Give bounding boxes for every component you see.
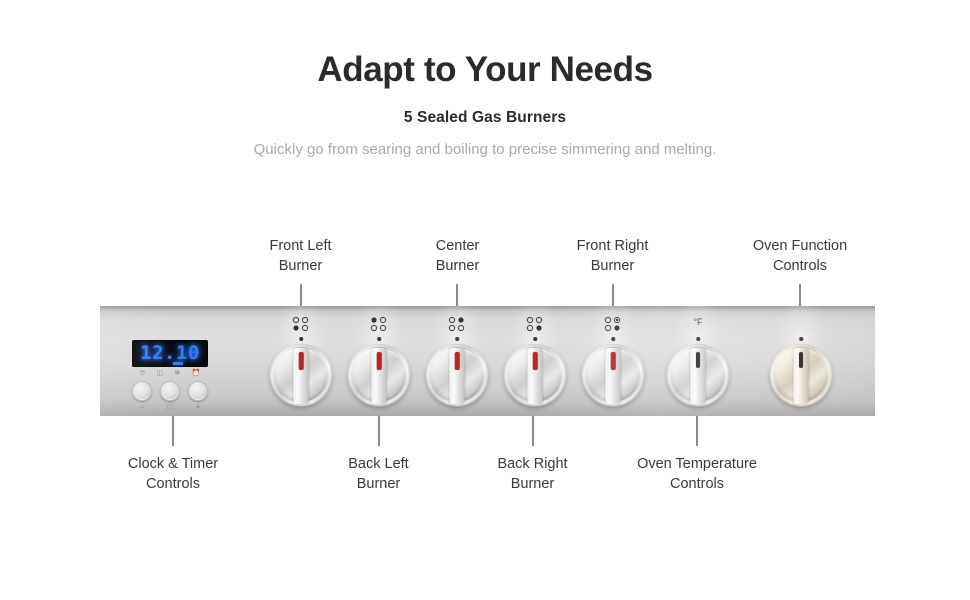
range-control-panel: 12.10 ⎊ ◫ ✻ ⏰ − □ + <box>100 306 875 416</box>
knob-index-dot <box>696 337 700 341</box>
page-title: Adapt to Your Needs <box>0 49 970 91</box>
clock-button-row <box>132 381 208 401</box>
callout-line-1: Back Left <box>316 454 441 474</box>
burner-position-icon <box>600 315 626 335</box>
knob-red-indicator <box>455 352 460 370</box>
callout-front-left-burner: Front Left Burner <box>238 236 363 276</box>
knob-center-burner[interactable] <box>426 315 488 410</box>
knob-dial[interactable] <box>348 344 410 406</box>
knob-front-left-burner[interactable] <box>270 315 332 410</box>
knob-index-dot <box>533 337 537 341</box>
leader-line-back-right-burner <box>532 416 534 446</box>
knob-dial[interactable] <box>426 344 488 406</box>
callout-line-1: Oven Temperature <box>612 454 782 474</box>
knob-index-dot <box>455 337 459 341</box>
knob-back-left-burner[interactable] <box>348 315 410 410</box>
burner-position-icon <box>366 315 392 335</box>
callout-line-1: Back Right <box>470 454 595 474</box>
knob-dark-indicator <box>799 352 803 368</box>
callout-back-right-burner: Back Right Burner <box>470 454 595 494</box>
callout-line-2: Burner <box>238 256 363 276</box>
callout-back-left-burner: Back Left Burner <box>316 454 441 494</box>
knob-index-dot <box>611 337 615 341</box>
knob-dial[interactable] <box>504 344 566 406</box>
burner-position-icon <box>288 315 314 335</box>
clock-display: 12.10 <box>132 340 208 367</box>
knob-oven-function[interactable] <box>770 315 832 410</box>
leader-line-oven-temperature-controls <box>696 416 698 446</box>
knob-oven-temperature[interactable]: °F <box>667 315 729 410</box>
set-button-label: □ <box>160 402 180 412</box>
callout-oven-temperature-controls: Oven Temperature Controls <box>612 454 782 494</box>
callout-line-2: Burner <box>395 256 520 276</box>
burner-position-icon <box>444 315 470 335</box>
callout-clock-and-timer-controls: Clock & Timer Controls <box>100 454 246 494</box>
knob-dial[interactable] <box>770 344 832 406</box>
callout-center-burner: Center Burner <box>395 236 520 276</box>
knob-back-right-burner[interactable] <box>504 315 566 410</box>
product-callout-figure: Adapt to Your Needs 5 Sealed Gas Burners… <box>0 0 970 600</box>
degrees-f-icon: °F <box>693 317 702 327</box>
knob-dial[interactable] <box>667 344 729 406</box>
plus-button-label: + <box>188 402 208 412</box>
oven-icon: ◫ <box>157 370 164 378</box>
knob-dial[interactable] <box>270 344 332 406</box>
clock-button-labels: − □ + <box>132 402 208 412</box>
clock-display-value: 12.10 <box>132 342 208 364</box>
probe-icon: ⎊ <box>140 370 146 378</box>
callout-line-2: Controls <box>100 474 246 494</box>
page-description: Quickly go from searing and boiling to p… <box>235 139 735 161</box>
knob-dark-indicator <box>696 352 700 368</box>
callout-line-2: Burner <box>550 256 675 276</box>
callout-line-2: Controls <box>612 474 782 494</box>
set-button[interactable] <box>160 381 180 401</box>
minus-button-label: − <box>132 402 152 412</box>
timer-icon: ⏰ <box>192 370 201 378</box>
leader-line-back-left-burner <box>378 416 380 446</box>
callout-line-1: Front Left <box>238 236 363 256</box>
callout-line-1: Center <box>395 236 520 256</box>
minus-button[interactable] <box>132 381 152 401</box>
burner-position-icon <box>522 315 548 335</box>
callout-line-1: Front Right <box>550 236 675 256</box>
knob-index-dot <box>377 337 381 341</box>
clock-display-underscore <box>173 362 183 365</box>
clock-indicator-row: ⎊ ◫ ✻ ⏰ <box>134 369 206 379</box>
knob-red-indicator <box>299 352 304 370</box>
callout-line-2: Controls <box>727 256 873 276</box>
knob-red-indicator <box>377 352 382 370</box>
knob-red-indicator <box>533 352 538 370</box>
knob-dial[interactable] <box>582 344 644 406</box>
callout-line-2: Burner <box>316 474 441 494</box>
callout-front-right-burner: Front Right Burner <box>550 236 675 276</box>
fan-icon: ✻ <box>174 370 180 378</box>
knob-index-dot <box>299 337 303 341</box>
knob-front-right-burner[interactable] <box>582 315 644 410</box>
callout-oven-function-controls: Oven Function Controls <box>727 236 873 276</box>
callout-line-1: Oven Function <box>727 236 873 256</box>
plus-button[interactable] <box>188 381 208 401</box>
callout-line-1: Clock & Timer <box>100 454 246 474</box>
knob-red-indicator <box>611 352 616 370</box>
leader-line-clock-and-timer-controls <box>172 416 174 446</box>
callout-line-2: Burner <box>470 474 595 494</box>
page-subtitle: 5 Sealed Gas Burners <box>0 109 970 127</box>
knob-index-dot <box>799 337 803 341</box>
